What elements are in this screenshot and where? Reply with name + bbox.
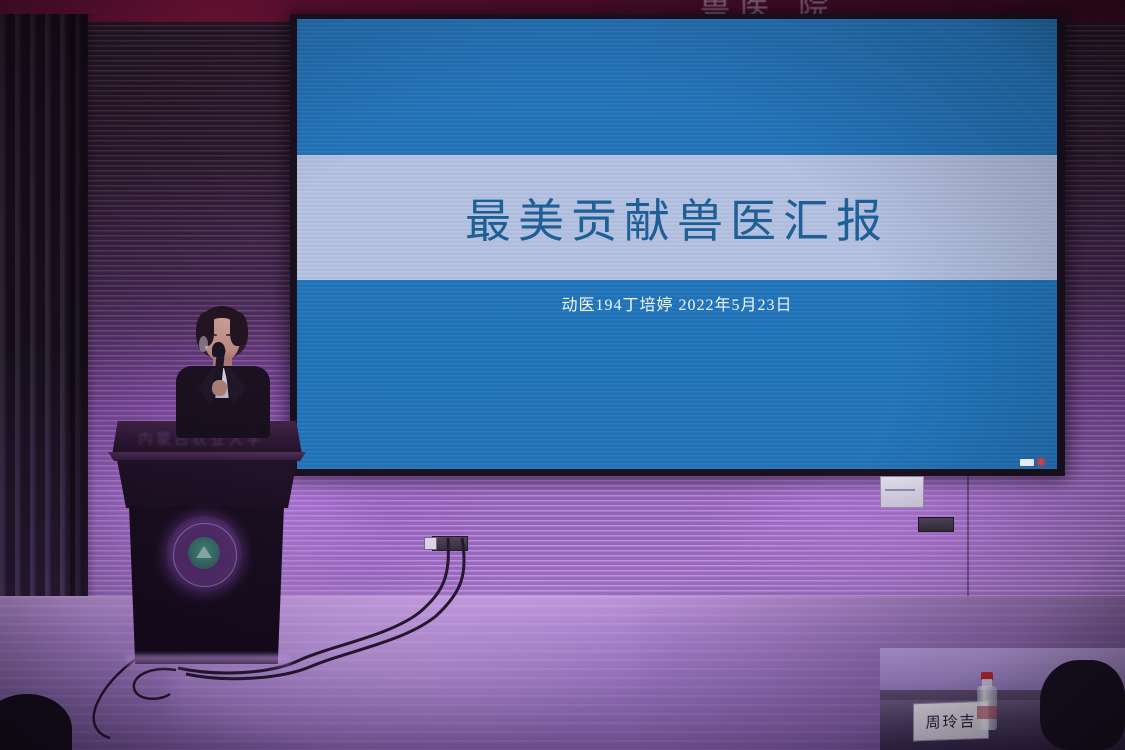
screen-indicator-light — [1020, 459, 1034, 466]
slide-title: 最美贡献兽医汇报 — [297, 155, 1057, 280]
screen-power-led-icon — [1038, 459, 1044, 465]
podium-base-light — [126, 655, 290, 668]
presenter-ear — [199, 336, 208, 352]
auditorium-stage-photo: 兽医 院 最美贡献兽医汇报 动医194丁培婷 2022年5月23日 内蒙古农业大… — [0, 0, 1125, 750]
projection-screen: 最美贡献兽医汇报 动医194丁培婷 2022年5月23日 — [297, 19, 1057, 469]
presenter-eye-left — [211, 334, 217, 336]
slide-subtitle: 动医194丁培婷 2022年5月23日 — [297, 291, 1057, 315]
audience-head-right — [1040, 660, 1125, 750]
presenter-eye-right — [226, 334, 232, 336]
emblem-center-motif — [188, 537, 220, 569]
microphone-head — [212, 342, 225, 357]
bottle-label — [977, 706, 997, 719]
podium-body — [117, 460, 297, 508]
water-bottle — [977, 672, 997, 730]
presenter — [168, 306, 278, 436]
presenter-hair-right — [230, 312, 248, 346]
university-emblem — [166, 516, 242, 592]
podium-lip — [108, 452, 306, 461]
